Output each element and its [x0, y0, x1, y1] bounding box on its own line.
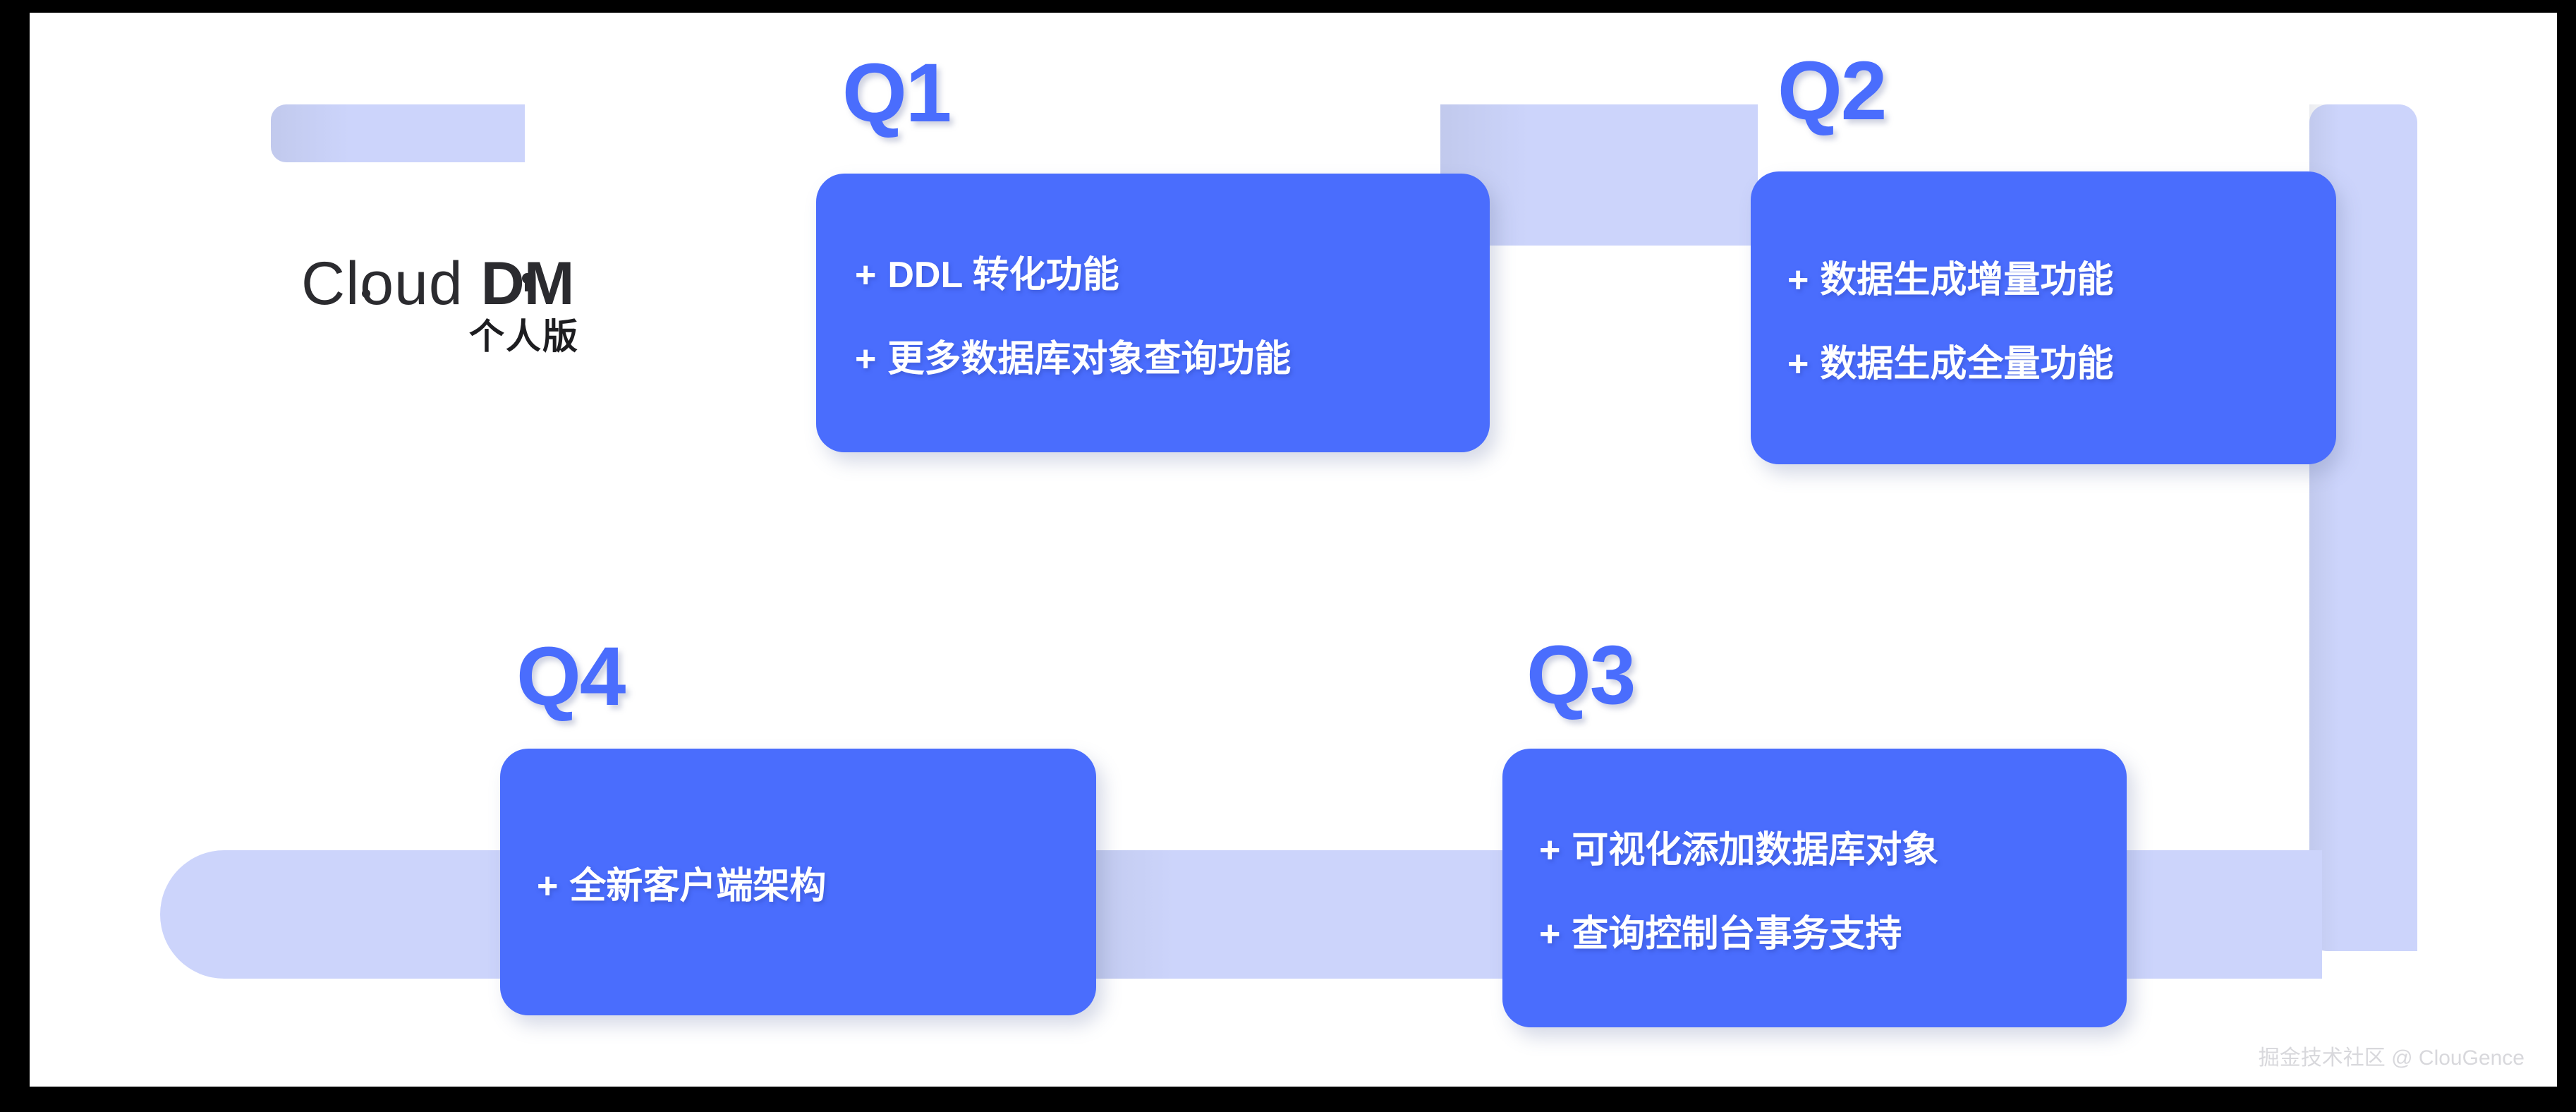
quarter-item-text: DDL 转化功能	[887, 245, 1119, 298]
quarter-label-q2: Q2	[1778, 49, 1885, 133]
logo-keyhole-stem-icon	[525, 280, 530, 291]
quarter-item-q2-1: + 数据生成全量功能	[1787, 334, 2336, 387]
logo-word-cloud: Cloud	[301, 250, 463, 318]
logo-o-dot-icon	[362, 289, 370, 298]
plus-icon: +	[855, 338, 876, 380]
outer-frame: Q1 + DDL 转化功能 + 更多数据库对象查询功能 Q2	[0, 0, 2576, 1112]
plus-icon: +	[1787, 343, 1809, 385]
plus-icon: +	[1539, 913, 1560, 955]
plus-icon: +	[537, 865, 558, 907]
plus-icon: +	[1539, 829, 1560, 871]
quarter-card-q2[interactable]: + 数据生成增量功能 + 数据生成全量功能	[1751, 171, 2336, 464]
product-logo: Cloud DM 个人版	[301, 249, 668, 369]
logo-edition-label: 个人版	[469, 308, 579, 359]
quarter-label-q1: Q1	[842, 52, 950, 135]
quarter-item-q3-1: + 查询控制台事务支持	[1539, 904, 2127, 957]
quarter-item-q1-0: + DDL 转化功能	[855, 245, 1490, 298]
plus-icon: +	[855, 254, 876, 296]
quarter-label-q4: Q4	[516, 635, 624, 718]
quarter-item-text: 数据生成全量功能	[1820, 334, 2113, 387]
quarter-item-text: 全新客户端架构	[569, 856, 826, 909]
slide-canvas: Q1 + DDL 转化功能 + 更多数据库对象查询功能 Q2	[30, 13, 2557, 1087]
quarter-item-q4-0: + 全新客户端架构	[537, 856, 1096, 909]
quarter-item-text: 查询控制台事务支持	[1572, 904, 1902, 957]
quarter-item-text: 数据生成增量功能	[1820, 250, 2113, 303]
quarter-item-q3-0: + 可视化添加数据库对象	[1539, 820, 2127, 873]
track-segment-left-cap	[160, 850, 555, 979]
track-segment-logo-to-q1	[271, 104, 525, 162]
quarter-item-q1-1: + 更多数据库对象查询功能	[855, 329, 1490, 382]
plus-icon: +	[1787, 259, 1809, 301]
quarter-item-text: 可视化添加数据库对象	[1572, 820, 1938, 873]
quarter-item-text: 更多数据库对象查询功能	[887, 329, 1291, 382]
quarter-card-q4[interactable]: + 全新客户端架构	[500, 749, 1096, 1015]
quarter-card-q1[interactable]: + DDL 转化功能 + 更多数据库对象查询功能	[816, 174, 1490, 452]
quarter-label-q3: Q3	[1526, 634, 1634, 717]
quarter-card-q3[interactable]: + 可视化添加数据库对象 + 查询控制台事务支持	[1502, 749, 2127, 1027]
quarter-item-q2-0: + 数据生成增量功能	[1787, 250, 2336, 303]
watermark: 掘金技术社区 @ ClouGence	[2259, 1040, 2525, 1071]
